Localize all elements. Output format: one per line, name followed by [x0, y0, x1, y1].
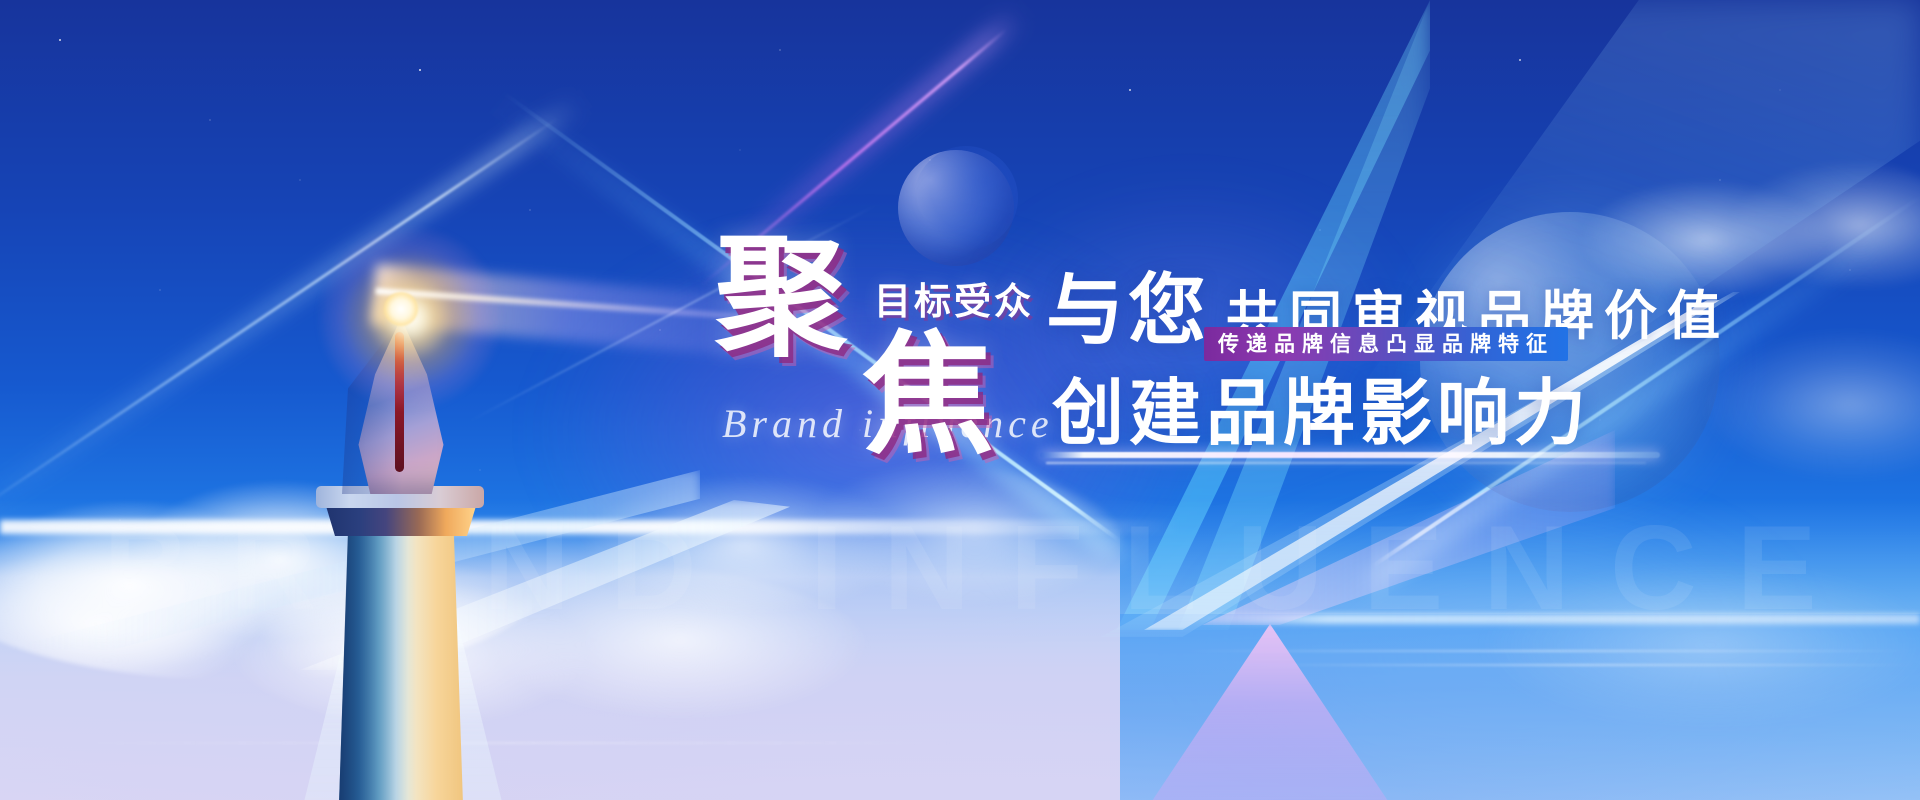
- audience-tag: 目标受众: [874, 283, 1034, 320]
- script-subtitle: Brand influence: [722, 400, 1054, 447]
- cloud-center: [560, 455, 1120, 625]
- cloud-right-mid: [1700, 330, 1920, 480]
- crescent-moon-icon: [898, 150, 1014, 266]
- light-beam-cyan-inner: [1010, 0, 1430, 630]
- sea-band: [1120, 614, 1920, 800]
- pen-nib-lighthouse: [300, 270, 580, 800]
- horizon-glow-right: [1180, 614, 1920, 624]
- headline-line-2-lead: 与您: [1046, 275, 1210, 347]
- brand-banner: BRAND INFLUENCE Brand influence 聚 焦 目标受众…: [0, 0, 1920, 800]
- wave-line-1: [1180, 650, 1920, 652]
- wave-line-2: [1250, 664, 1920, 666]
- light-beam-pink: [1150, 624, 1390, 800]
- large-planet-icon: [1420, 212, 1720, 512]
- lighthouse-collar: [326, 506, 476, 536]
- lighthouse-lamp-core: [384, 292, 418, 326]
- cloud-right-lower: [1480, 560, 1920, 730]
- horizon-glow-left: [0, 520, 1180, 534]
- background-watermark: BRAND INFLUENCE: [0, 508, 1920, 628]
- lighthouse-tower-shade: [338, 534, 408, 800]
- ground-haze: [0, 500, 1920, 800]
- light-beam-cyan: [870, 0, 1430, 630]
